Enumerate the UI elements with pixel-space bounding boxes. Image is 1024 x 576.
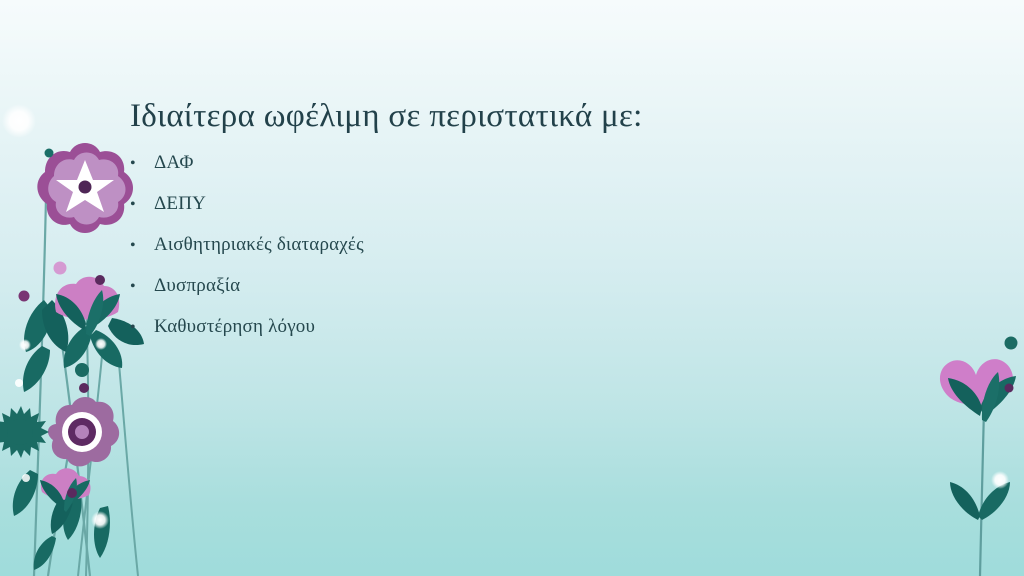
teal-starburst: [0, 406, 49, 458]
left-stems-group: [34, 196, 138, 576]
list-item-label: Αισθητηριακές διαταραχές: [154, 235, 364, 254]
ringed-purple-flower: [48, 383, 119, 466]
white-dot-tiny-2: [22, 474, 30, 482]
dark-purple-dot-right: [1005, 384, 1014, 393]
bullet-marker-icon: •: [130, 320, 154, 336]
list-item-label: ΔΕΠΥ: [154, 194, 206, 213]
right-flower-group: [940, 337, 1018, 576]
list-item-label: Καθυστέρηση λόγου: [154, 317, 315, 336]
list-item: • Δυσπραξία: [130, 276, 890, 295]
white-glow-dot-right: [991, 471, 1009, 489]
teal-dot-mid: [75, 363, 89, 377]
white-glow-dot-mid-2: [95, 338, 107, 350]
list-item-label: ΔΑΦ: [154, 153, 194, 172]
left-leaves-group: [13, 300, 144, 570]
small-pink-flower-bottom: [40, 468, 91, 512]
list-item: • ΔΕΠΥ: [130, 194, 890, 213]
white-glow-dot-top-left: [2, 104, 36, 138]
slide-content: Ιδιαίτερα ωφέλιμη σε περιστατικά με: • Δ…: [130, 96, 890, 358]
page-title: Ιδιαίτερα ωφέλιμη σε περιστατικά με:: [130, 96, 890, 137]
bullet-marker-icon: •: [130, 197, 154, 213]
teal-dot-small-right: [1005, 337, 1018, 350]
list-item-label: Δυσπραξία: [154, 276, 240, 295]
large-purple-star-flower: [37, 143, 133, 233]
bullet-list: • ΔΑΦ • ΔΕΠΥ • Αισθητηριακές διαταραχές …: [130, 153, 890, 336]
list-item: • ΔΑΦ: [130, 153, 890, 172]
pink-tulip-flower: [19, 262, 121, 337]
list-item: • Καθυστέρηση λόγου: [130, 317, 890, 336]
white-glow-dot-bottom: [91, 511, 109, 529]
presentation-slide: Ιδιαίτερα ωφέλιμη σε περιστατικά με: • Δ…: [0, 0, 1024, 576]
bullet-marker-icon: •: [130, 279, 154, 295]
bullet-marker-icon: •: [130, 156, 154, 172]
dark-purple-dot: [67, 488, 77, 498]
white-glow-dot-mid: [19, 339, 31, 351]
white-dot-tiny: [15, 379, 23, 387]
list-item: • Αισθητηριακές διαταραχές: [130, 235, 890, 254]
teal-dot-small: [45, 149, 54, 158]
bullet-marker-icon: •: [130, 238, 154, 254]
